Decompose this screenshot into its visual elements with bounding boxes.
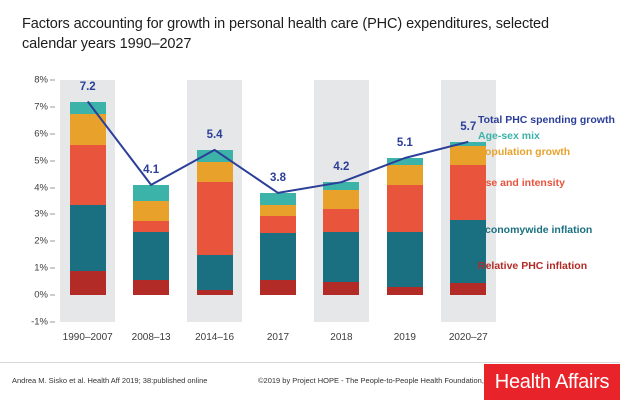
y-tick-mark (50, 295, 55, 296)
bar-segment[interactable] (387, 165, 423, 185)
y-tick-label: -1% (2, 317, 48, 328)
legend-item[interactable]: Population growth (478, 146, 570, 158)
data-label: 5.1 (397, 137, 413, 149)
bar-segment[interactable] (323, 209, 359, 232)
bar-segment[interactable] (387, 185, 423, 232)
x-tick-label: 1990–2007 (63, 332, 113, 343)
bar-segment[interactable] (70, 145, 106, 206)
chart-root: Factors accounting for growth in persona… (0, 0, 620, 400)
copyright-notice: ©2019 by Project HOPE - The People-to-Pe… (258, 376, 498, 385)
y-tick-mark (50, 160, 55, 161)
y-tick-mark (50, 214, 55, 215)
bar-segment[interactable] (133, 221, 169, 232)
bar-segment[interactable] (197, 150, 233, 162)
bar-stack[interactable] (323, 80, 359, 322)
data-label: 4.1 (143, 164, 159, 176)
bar-segment[interactable] (323, 282, 359, 295)
y-tick-mark (50, 106, 55, 107)
bar-segment[interactable] (450, 283, 486, 295)
x-tick-label: 2014–16 (195, 332, 234, 343)
legend-item[interactable]: Use and intensity (478, 177, 565, 189)
data-label: 5.4 (207, 129, 223, 141)
data-label: 4.2 (333, 161, 349, 173)
bar-segment[interactable] (260, 205, 296, 216)
data-label: 5.7 (460, 121, 476, 133)
y-tick-label: 7% (2, 101, 48, 112)
bar-stack[interactable] (70, 80, 106, 322)
bar-segment[interactable] (197, 182, 233, 255)
footer-divider (0, 362, 620, 363)
bar-segment[interactable] (260, 216, 296, 233)
bar-segment[interactable] (133, 185, 169, 201)
legend-item[interactable]: Relative PHC inflation (478, 260, 587, 272)
bar-segment[interactable] (133, 232, 169, 280)
bar-segment[interactable] (260, 193, 296, 205)
y-tick-label: 3% (2, 209, 48, 220)
bar-segment[interactable] (260, 233, 296, 280)
bar-segment[interactable] (260, 280, 296, 295)
plot-area: Average annual change 8%7%6%5%4%3%2%1%0%… (56, 80, 500, 322)
bar-segment[interactable] (323, 182, 359, 190)
source-citation: Andrea M. Sisko et al. Health Aff 2019; … (12, 376, 207, 385)
bar-stack[interactable] (133, 80, 169, 322)
y-tick-label: 2% (2, 236, 48, 247)
y-tick-mark (50, 268, 55, 269)
bar-segment[interactable] (197, 290, 233, 295)
bar-stack[interactable] (260, 80, 296, 322)
y-tick-label: 1% (2, 263, 48, 274)
x-tick-label: 2018 (330, 332, 352, 343)
data-label: 3.8 (270, 172, 286, 184)
y-tick-mark (50, 133, 55, 134)
bar-segment[interactable] (387, 287, 423, 295)
page-title: Factors accounting for growth in persona… (22, 14, 582, 54)
data-label: 7.2 (80, 81, 96, 93)
bar-segment[interactable] (323, 190, 359, 209)
bar-stack[interactable] (197, 80, 233, 322)
y-tick-label: 4% (2, 182, 48, 193)
bar-segment[interactable] (450, 165, 486, 220)
legend-item[interactable]: Age-sex mix (478, 130, 540, 142)
bar-segment[interactable] (197, 255, 233, 290)
bar-segment[interactable] (70, 102, 106, 114)
y-tick-label: 0% (2, 290, 48, 301)
y-tick-mark (50, 187, 55, 188)
health-affairs-logo: Health Affairs (484, 364, 620, 400)
bar-segment[interactable] (70, 205, 106, 271)
y-tick-mark (50, 241, 55, 242)
y-tick-label: 5% (2, 155, 48, 166)
bar-segment[interactable] (70, 114, 106, 145)
bar-segment[interactable] (70, 271, 106, 295)
bar-segment[interactable] (387, 232, 423, 287)
bar-segment[interactable] (133, 280, 169, 295)
bar-segment[interactable] (323, 232, 359, 282)
bar-segment[interactable] (387, 158, 423, 165)
bar-segment[interactable] (197, 162, 233, 182)
y-tick-label: 8% (2, 75, 48, 86)
x-tick-label: 2020–27 (449, 332, 488, 343)
bar-segment[interactable] (133, 201, 169, 221)
legend-item[interactable]: Economywide inflation (478, 224, 592, 236)
x-tick-label: 2019 (394, 332, 416, 343)
y-tick-mark (50, 322, 55, 323)
x-tick-label: 2017 (267, 332, 289, 343)
x-tick-label: 2008–13 (132, 332, 171, 343)
y-tick-label: 6% (2, 128, 48, 139)
y-tick-mark (50, 80, 55, 81)
legend-item[interactable]: Total PHC spending growth (478, 114, 615, 126)
bar-stack[interactable] (387, 80, 423, 322)
